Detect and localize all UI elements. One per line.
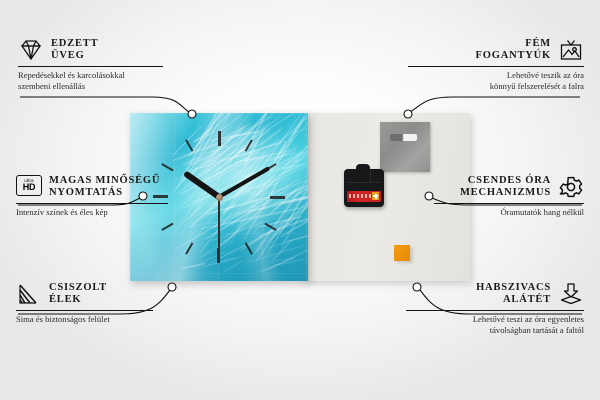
callout-subtitle-line1: Sima és biztonságos felület — [16, 314, 166, 325]
callout-subtitle-line2: szembeni ellenállás — [18, 81, 178, 92]
battery-plus-terminal — [372, 192, 379, 200]
callout-subtitle-line2: távolságban tartását a faltól — [406, 325, 584, 336]
battery-label — [349, 194, 371, 198]
clock-pivot — [216, 194, 223, 201]
callout-subtitle-line1: Lehetővé teszi az óra egyenletes — [406, 314, 584, 325]
clock-second-hand — [218, 197, 220, 259]
callout-subtitle-line1: Lehetővé teszik az óra — [408, 70, 584, 81]
picture-frame-icon — [558, 38, 584, 62]
callout-subtitle-line1: Óramutatók hang nélkül — [434, 207, 584, 218]
callout-title-line2: NYOMTATÁS — [49, 187, 160, 199]
callout-subtitle-line1: Repedésekkel és karcolásokkal — [18, 70, 178, 81]
callout-title-line1: EDZETT — [51, 38, 98, 50]
callout-rule — [18, 66, 163, 67]
gear-icon — [558, 175, 584, 199]
callout-high-quality-print[interactable]: ultra HD MAGAS MINŐSÉGŰ NYOMTATÁS Intenz… — [16, 175, 181, 218]
callout-title-line1: CSENDES ÓRA — [460, 175, 551, 187]
mechanism-tab — [356, 164, 370, 171]
callout-title-line2: ÜVEG — [51, 50, 98, 62]
foam-spacer-pad — [394, 245, 410, 261]
callout-foam-pad[interactable]: HABSZIVACS ALÁTÉT Lehetővé teszi az óra … — [406, 282, 584, 336]
callout-rule — [434, 203, 584, 204]
callout-title-line2: FOGANTYÚK — [476, 50, 551, 62]
mechanism-seam — [347, 182, 381, 183]
bevelled-edge-icon — [16, 282, 42, 306]
callout-metal-handles[interactable]: FÉM FOGANTYÚK Lehetővé teszik az óra kön… — [408, 38, 584, 92]
clock-tick — [218, 131, 220, 197]
callout-polished-edges[interactable]: CSISZOLT ÉLEK Sima és biztonságos felüle… — [16, 282, 166, 325]
callout-title-line1: CSISZOLT — [49, 282, 107, 294]
foam-pad-icon — [558, 282, 584, 306]
callout-title-line2: ÉLEK — [49, 294, 107, 306]
battery — [347, 191, 381, 202]
callout-rule — [408, 66, 584, 67]
leader-line-tempered-glass — [20, 97, 190, 113]
callout-subtitle-line2: könnyű felszerelését a falra — [408, 81, 584, 92]
callout-title-line1: MAGAS MINŐSÉGŰ — [49, 175, 160, 187]
leader-line-metal-handles — [410, 97, 580, 112]
ultra-hd-icon: ultra HD — [16, 175, 42, 199]
ultra-hd-large-text: HD — [23, 183, 36, 192]
quartz-mechanism — [344, 169, 384, 207]
metal-hanger-plate — [380, 122, 430, 172]
callout-title-line2: ALÁTÉT — [476, 294, 551, 306]
callout-subtitle-line1: Intenzív színek és éles kép — [16, 207, 181, 218]
callout-title-line1: HABSZIVACS — [476, 282, 551, 294]
callout-title-line1: FÉM — [476, 38, 551, 50]
diamond-icon — [18, 38, 44, 62]
callout-rule — [16, 310, 153, 311]
callout-tempered-glass[interactable]: EDZETT ÜVEG Repedésekkel és karcolásokka… — [18, 38, 178, 92]
callout-title-line2: MECHANIZMUS — [460, 187, 551, 199]
infographic-stage: EDZETT ÜVEG Repedésekkel és karcolásokka… — [0, 0, 600, 400]
mechanism-seam-vertical — [370, 171, 371, 183]
callout-rule — [406, 310, 584, 311]
callout-rule — [16, 203, 168, 204]
hanger-slot — [390, 134, 417, 141]
callout-silent-mechanism[interactable]: CSENDES ÓRA MECHANIZMUS Óramutatók hang … — [434, 175, 584, 218]
product-image — [130, 113, 470, 281]
clock-tick — [219, 196, 285, 198]
